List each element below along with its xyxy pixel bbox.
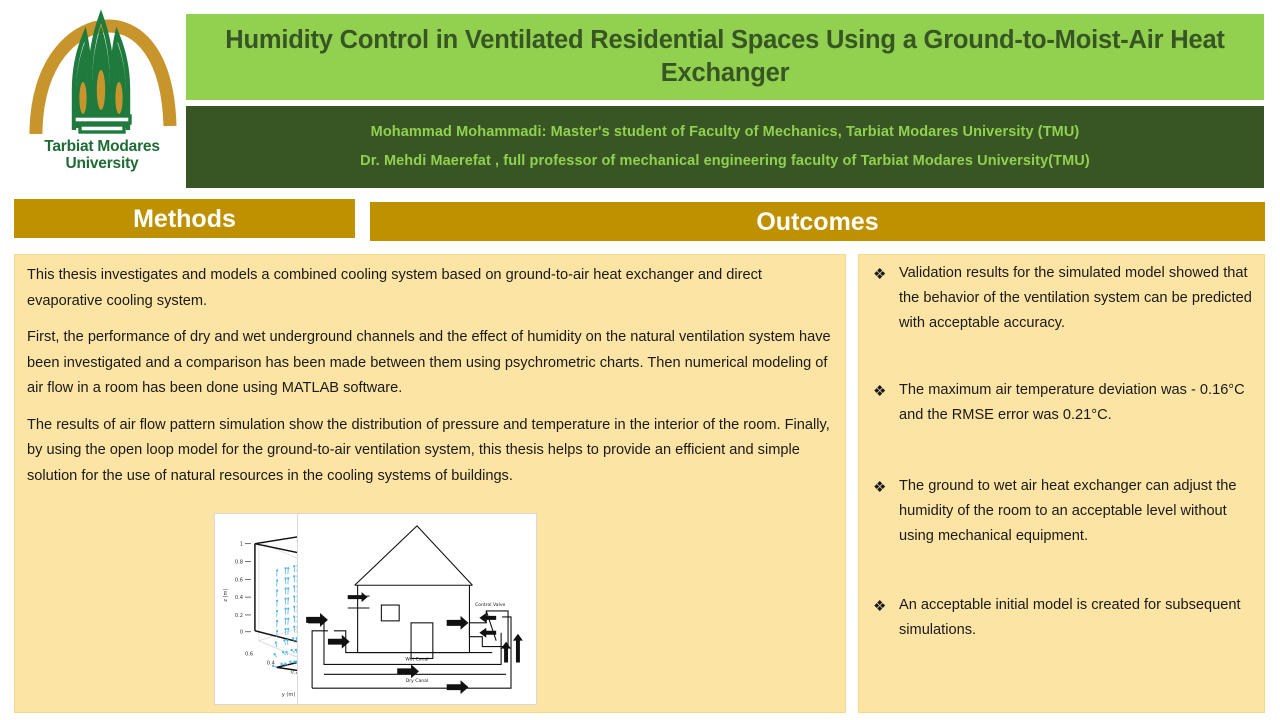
- svg-text:0.8: 0.8: [235, 559, 243, 565]
- section-header-outcomes-label: Outcomes: [756, 209, 878, 235]
- methods-paragraph-3: The results of air flow pattern simulati…: [27, 413, 835, 490]
- logo-mark-icon: [22, 8, 182, 140]
- diamond-bullet-icon: ❖: [873, 593, 899, 619]
- diamond-bullet-icon: ❖: [873, 378, 899, 404]
- logo-text: Tarbiat Modares University: [22, 138, 182, 172]
- diamond-bullet-icon: ❖: [873, 474, 899, 500]
- svg-text:0.6: 0.6: [235, 577, 243, 583]
- control-valve-label: Control Valve: [475, 602, 505, 608]
- outcomes-panel: ❖ Validation results for the simulated m…: [858, 254, 1265, 713]
- logo-text-line2: University: [22, 155, 182, 172]
- logo-text-line1: Tarbiat Modares: [22, 138, 182, 155]
- author-line-1: Mohammad Mohammadi: Master's student of …: [371, 124, 1080, 141]
- list-item: ❖ The maximum air temperature deviation …: [873, 378, 1256, 428]
- poster-title-band: Humidity Control in Ventilated Residenti…: [186, 14, 1264, 100]
- section-header-methods: Methods: [14, 199, 355, 238]
- list-item: ❖ Validation results for the simulated m…: [873, 261, 1256, 336]
- author-line-2: Dr. Mehdi Maerefat , full professor of m…: [360, 153, 1090, 170]
- outcome-text-2: The maximum air temperature deviation wa…: [899, 378, 1256, 428]
- svg-text:0.2: 0.2: [235, 613, 243, 619]
- university-logo: Tarbiat Modares University: [22, 8, 182, 186]
- svg-text:0: 0: [240, 630, 243, 636]
- authors-band: Mohammad Mohammadi: Master's student of …: [186, 106, 1264, 188]
- svg-text:0.4: 0.4: [235, 595, 243, 601]
- heat-exchanger-schematic-figure: Wet Canal Dry Canal Control Valve: [297, 513, 537, 705]
- list-item: ❖ An acceptable initial model is created…: [873, 593, 1256, 643]
- house-schematic-svg: Wet Canal Dry Canal Control Valve: [298, 514, 536, 704]
- outcomes-bullet-list: ❖ Validation results for the simulated m…: [873, 261, 1256, 643]
- svg-text:0.4: 0.4: [267, 660, 275, 666]
- dry-canal-label: Dry Canal: [406, 678, 428, 684]
- poster-root: Tarbiat Modares University Humidity Cont…: [0, 0, 1280, 720]
- diamond-bullet-icon: ❖: [873, 261, 899, 287]
- list-item: ❖ The ground to wet air heat exchanger c…: [873, 474, 1256, 549]
- outcome-text-1: Validation results for the simulated mod…: [899, 261, 1256, 336]
- methods-paragraph-1: This thesis investigates and models a co…: [27, 263, 835, 314]
- methods-body: This thesis investigates and models a co…: [27, 263, 835, 500]
- methods-panel: This thesis investigates and models a co…: [14, 254, 846, 713]
- svg-text:1: 1: [240, 542, 243, 548]
- outcome-text-3: The ground to wet air heat exchanger can…: [899, 474, 1256, 549]
- svg-text:0.6: 0.6: [245, 652, 253, 658]
- outcome-text-4: An acceptable initial model is created f…: [899, 593, 1256, 643]
- methods-paragraph-2: First, the performance of dry and wet un…: [27, 325, 835, 402]
- wet-canal-label: Wet Canal: [405, 656, 428, 662]
- svg-text:y (m): y (m): [282, 692, 296, 698]
- poster-title: Humidity Control in Ventilated Residenti…: [200, 24, 1250, 90]
- section-header-outcomes: Outcomes: [370, 202, 1265, 241]
- svg-text:z (m): z (m): [223, 588, 229, 601]
- section-header-methods-label: Methods: [133, 206, 236, 232]
